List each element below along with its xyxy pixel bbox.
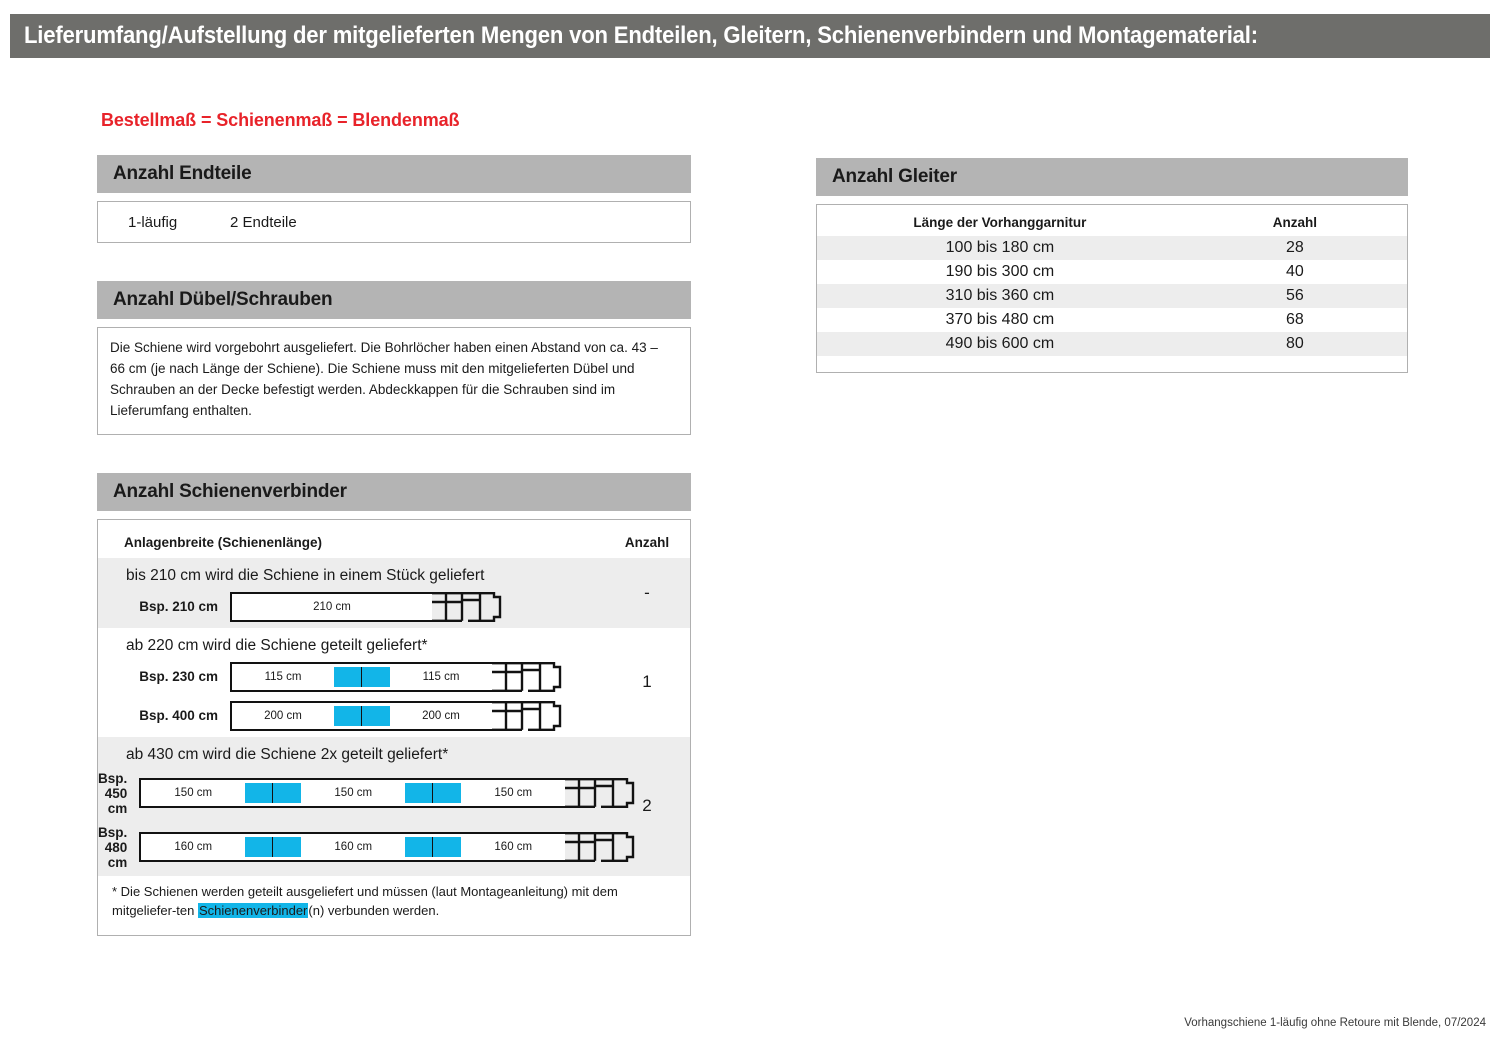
gleiter-range: 310 bis 360 cm [817, 284, 1183, 308]
rail-connector [245, 834, 301, 860]
rail-end-cap-icon [565, 778, 639, 808]
rail-label: Bsp. 210 cm [98, 599, 230, 614]
gleiter-row: 490 bis 600 cm 80 [817, 332, 1407, 356]
gleiter-count: 56 [1183, 284, 1407, 308]
gleiter-row: 370 bis 480 cm 68 [817, 308, 1407, 332]
rail-diagram: 200 cm 200 cm [230, 701, 566, 731]
rail-segment: 115 cm [232, 664, 334, 690]
group-content: ab 430 cm wird die Schiene 2x geteilt ge… [98, 737, 604, 876]
schienenverbinder-footnote: * Die Schienen werden geteilt ausgeliefe… [98, 876, 690, 923]
rail-segment: 200 cm [390, 703, 492, 729]
spacer [97, 435, 691, 473]
column-header-anzahl: Anzahl [604, 535, 690, 550]
rail-end-cap-icon [492, 662, 566, 692]
rail-diagram: 115 cm 115 cm [230, 662, 566, 692]
rail-end-cap-icon [492, 701, 566, 731]
group-count: 1 [604, 628, 690, 737]
rail-segment: 160 cm [461, 834, 565, 860]
rail-row: Bsp. 400 cm 200 cm 200 cm [98, 698, 604, 737]
schienenverbinder-group: ab 220 cm wird die Schiene geteilt gelie… [98, 628, 690, 737]
rail-connector [334, 664, 390, 690]
panel-endteile: 1-läufig 2 Endteile [97, 201, 691, 243]
schienenverbinder-groups: bis 210 cm wird die Schiene in einem Stü… [98, 558, 690, 876]
left-column: Bestellmaß = Schienenmaß = Blendenmaß An… [97, 110, 691, 936]
group-title: ab 430 cm wird die Schiene 2x geteilt ge… [98, 737, 604, 768]
rail-end-cap [565, 832, 639, 862]
endteile-row: 1-läufig 2 Endteile [98, 202, 690, 242]
rail-segment: 210 cm [232, 594, 432, 620]
section-title-duebel: Anzahl Dübel/Schrauben [113, 289, 332, 311]
gleiter-count: 28 [1183, 236, 1407, 260]
rail-end-cap-icon [565, 832, 639, 862]
panel-duebel: Die Schiene wird vorgebohrt ausgeliefert… [97, 327, 691, 435]
rail-end-cap [565, 778, 639, 808]
gleiter-table: Länge der Vorhanggarnitur Anzahl 100 bis… [817, 205, 1407, 356]
endteile-laeufig: 1-läufig [128, 214, 230, 231]
section-header-duebel: Anzahl Dübel/Schrauben [97, 281, 691, 319]
rail-diagram: 210 cm [230, 592, 506, 622]
right-column: Anzahl Gleiter Länge der Vorhanggarnitur… [816, 158, 1408, 373]
rail-diagram: 160 cm 160 cm 160 cm [139, 832, 639, 862]
rail-segment: 150 cm [461, 780, 565, 806]
rail-connector [405, 834, 461, 860]
rail-segment: 115 cm [390, 664, 492, 690]
rail-connector [334, 703, 390, 729]
panel-schienenverbinder: Anlagenbreite (Schienenlänge) Anzahl bis… [97, 519, 691, 936]
group-content: bis 210 cm wird die Schiene in einem Stü… [98, 558, 604, 628]
section-header-endteile: Anzahl Endteile [97, 155, 691, 193]
gleiter-row: 100 bis 180 cm 28 [817, 236, 1407, 260]
section-title-gleiter: Anzahl Gleiter [832, 166, 957, 188]
rail-connector [245, 780, 301, 806]
rail-diagram: 150 cm 150 cm 150 cm [139, 778, 639, 808]
gleiter-row: 190 bis 300 cm 40 [817, 260, 1407, 284]
gleiter-table-body: 100 bis 180 cm 28 190 bis 300 cm 40 310 … [817, 236, 1407, 356]
gleiter-count: 80 [1183, 332, 1407, 356]
rail-body: 115 cm 115 cm [230, 662, 492, 692]
rail-segment: 160 cm [141, 834, 245, 860]
rail-body: 200 cm 200 cm [230, 701, 492, 731]
schienenverbinder-group: bis 210 cm wird die Schiene in einem Stü… [98, 558, 690, 628]
group-title: ab 220 cm wird die Schiene geteilt gelie… [98, 628, 604, 659]
gleiter-range: 370 bis 480 cm [817, 308, 1183, 332]
rail-end-cap [432, 592, 506, 622]
page-header-bar: Lieferumfang/Aufstellung der mitgeliefer… [10, 14, 1490, 58]
rail-body: 210 cm [230, 592, 432, 622]
page-footer: Vorhangschiene 1-läufig ohne Retoure mit… [1184, 1017, 1486, 1029]
rail-connector [405, 780, 461, 806]
rail-segment: 200 cm [232, 703, 334, 729]
gleiter-header-row: Länge der Vorhanggarnitur Anzahl [817, 205, 1407, 236]
duebel-description: Die Schiene wird vorgebohrt ausgeliefert… [98, 328, 690, 434]
gleiter-col-anzahl: Anzahl [1183, 205, 1407, 236]
gleiter-count: 68 [1183, 308, 1407, 332]
group-count: - [604, 558, 690, 628]
gleiter-col-laenge: Länge der Vorhanggarnitur [817, 205, 1183, 236]
section-header-gleiter: Anzahl Gleiter [816, 158, 1408, 196]
spacer [817, 356, 1407, 372]
section-title-schienenverbinder: Anzahl Schienenverbinder [113, 481, 347, 503]
gleiter-range: 100 bis 180 cm [817, 236, 1183, 260]
section-title-endteile: Anzahl Endteile [113, 163, 251, 185]
group-content: ab 220 cm wird die Schiene geteilt gelie… [98, 628, 604, 737]
schienenverbinder-group: ab 430 cm wird die Schiene 2x geteilt ge… [98, 737, 690, 876]
group-title: bis 210 cm wird die Schiene in einem Stü… [98, 558, 604, 589]
column-header-anlagenbreite: Anlagenbreite (Schienenlänge) [98, 535, 604, 550]
gleiter-range: 490 bis 600 cm [817, 332, 1183, 356]
rail-segment: 150 cm [301, 780, 405, 806]
page-title: Lieferumfang/Aufstellung der mitgeliefer… [24, 22, 1258, 50]
rail-end-cap [492, 701, 566, 731]
gleiter-row: 310 bis 360 cm 56 [817, 284, 1407, 308]
rail-body: 150 cm 150 cm 150 cm [139, 778, 565, 808]
rail-label: Bsp. 480 cm [98, 825, 139, 870]
rail-body: 160 cm 160 cm 160 cm [139, 832, 565, 862]
schienenverbinder-table-header: Anlagenbreite (Schienenlänge) Anzahl [98, 520, 690, 558]
rail-label: Bsp. 230 cm [98, 669, 230, 684]
rail-label: Bsp. 400 cm [98, 708, 230, 723]
footnote-highlight: Schienenverbinder [198, 903, 308, 918]
gleiter-range: 190 bis 300 cm [817, 260, 1183, 284]
rail-row: Bsp. 480 cm 160 cm 160 cm 160 cm [98, 822, 604, 876]
rail-end-cap [492, 662, 566, 692]
section-header-schienenverbinder: Anzahl Schienenverbinder [97, 473, 691, 511]
rail-label: Bsp. 450 cm [98, 771, 139, 816]
panel-gleiter: Länge der Vorhanggarnitur Anzahl 100 bis… [816, 204, 1408, 373]
measurement-note: Bestellmaß = Schienenmaß = Blendenmaß [101, 110, 691, 131]
rail-segment: 160 cm [301, 834, 405, 860]
rail-segment: 150 cm [141, 780, 245, 806]
rail-row: Bsp. 210 cm 210 cm [98, 589, 604, 628]
gleiter-count: 40 [1183, 260, 1407, 284]
spacer [97, 243, 691, 281]
rail-end-cap-icon [432, 592, 506, 622]
rail-row: Bsp. 450 cm 150 cm 150 cm 150 cm [98, 768, 604, 822]
rail-row: Bsp. 230 cm 115 cm 115 cm [98, 659, 604, 698]
footnote-part2: (n) verbunden werden. [308, 903, 439, 918]
endteile-count: 2 Endteile [230, 214, 297, 231]
